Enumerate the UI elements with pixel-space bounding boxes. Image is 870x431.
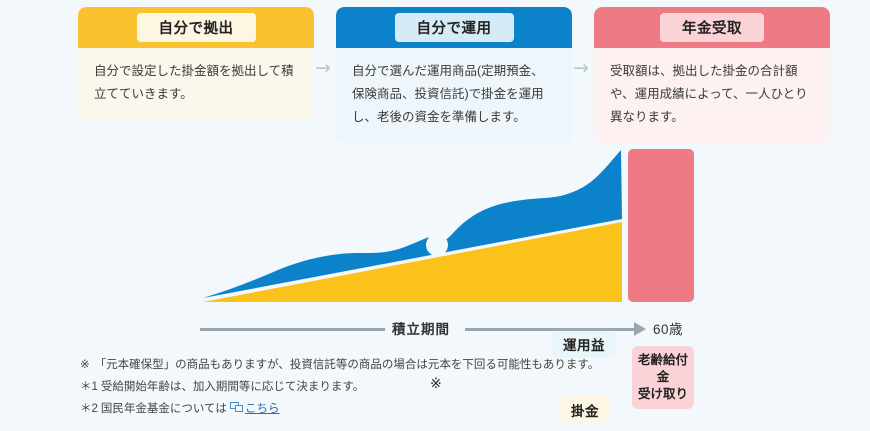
step-card-body-contribute: 自分で設定した掛金額を拠出して積立てていきます。	[78, 48, 314, 120]
footnote-external-link[interactable]: こちら	[230, 403, 280, 415]
step-arrow-1-icon: →	[311, 58, 335, 78]
step-card-body-invest: 自分で選んだ運用商品(定期預金、保険商品、投資信託)で掛金を運用し、老後の資金を…	[336, 48, 572, 143]
series-area-premium	[203, 222, 622, 302]
chart-svg	[0, 140, 870, 315]
timeline-period-label: 積立期間	[386, 321, 456, 338]
step-card-receive: 年金受取 受取額は、拠出した掛金の合計額や、運用成績によって、一人ひとり異なりま…	[594, 7, 830, 143]
footnote-marker-2: ＊2	[80, 401, 98, 419]
footnote-star-2: ＊2国民年金基金については こちら	[80, 401, 840, 419]
step-card-title-receive: 年金受取	[660, 13, 764, 42]
infographic-page: 自分で拠出 自分で設定した掛金額を拠出して積立てていきます。 → 自分で運用 自…	[0, 0, 870, 431]
step-card-body-receive: 受取額は、拠出した掛金の合計額や、運用成績によって、一人ひとり異なります。	[594, 48, 830, 143]
footnote-marker-1: ＊1	[80, 379, 98, 397]
timeline-line-left	[200, 328, 385, 331]
timeline-line-right	[465, 328, 637, 331]
step-card-header-contribute: 自分で拠出	[78, 7, 314, 48]
asterisk-notch	[426, 234, 448, 256]
step-card-invest: 自分で運用 自分で選んだ運用商品(定期預金、保険商品、投資信託)で掛金を運用し、…	[336, 7, 572, 143]
footnote-text-2-prefix: 国民年金基金については	[101, 403, 227, 415]
step-card-header-receive: 年金受取	[594, 7, 830, 48]
step-card-contribute: 自分で拠出 自分で設定した掛金額を拠出して積立てていきます。	[78, 7, 314, 120]
step-card-title-invest: 自分で運用	[395, 13, 514, 42]
accumulation-chart: ※ 運用益 掛金 老齢給付金 受け取り	[0, 140, 870, 315]
footnote-link-text: こちら	[245, 403, 280, 415]
timeline-arrowhead-icon	[634, 322, 646, 336]
footnote-star-1: ＊1受給開始年齢は、加入期間等に応じて決まります。	[80, 379, 840, 397]
footnotes: ※「元本確保型」の商品もありますが、投資信託等の商品の場合は元本を下回る可能性も…	[80, 357, 840, 422]
footnote-asterisk: ※「元本確保型」の商品もありますが、投資信託等の商品の場合は元本を下回る可能性も…	[80, 357, 840, 375]
step-card-header-invest: 自分で運用	[336, 7, 572, 48]
footnote-marker-0: ※	[80, 357, 90, 375]
payout-bar	[628, 149, 694, 302]
step-card-title-contribute: 自分で拠出	[137, 13, 256, 42]
external-link-icon	[230, 402, 243, 413]
footnote-text-1: 受給開始年齢は、加入期間等に応じて決まります。	[101, 381, 364, 393]
footnote-text-0: 「元本確保型」の商品もありますが、投資信託等の商品の場合は元本を下回る可能性もあ…	[95, 359, 600, 371]
accumulation-timeline: 積立期間 60歳	[0, 318, 870, 342]
step-arrow-2-icon: →	[569, 58, 593, 78]
timeline-age-label: 60歳	[653, 320, 683, 339]
